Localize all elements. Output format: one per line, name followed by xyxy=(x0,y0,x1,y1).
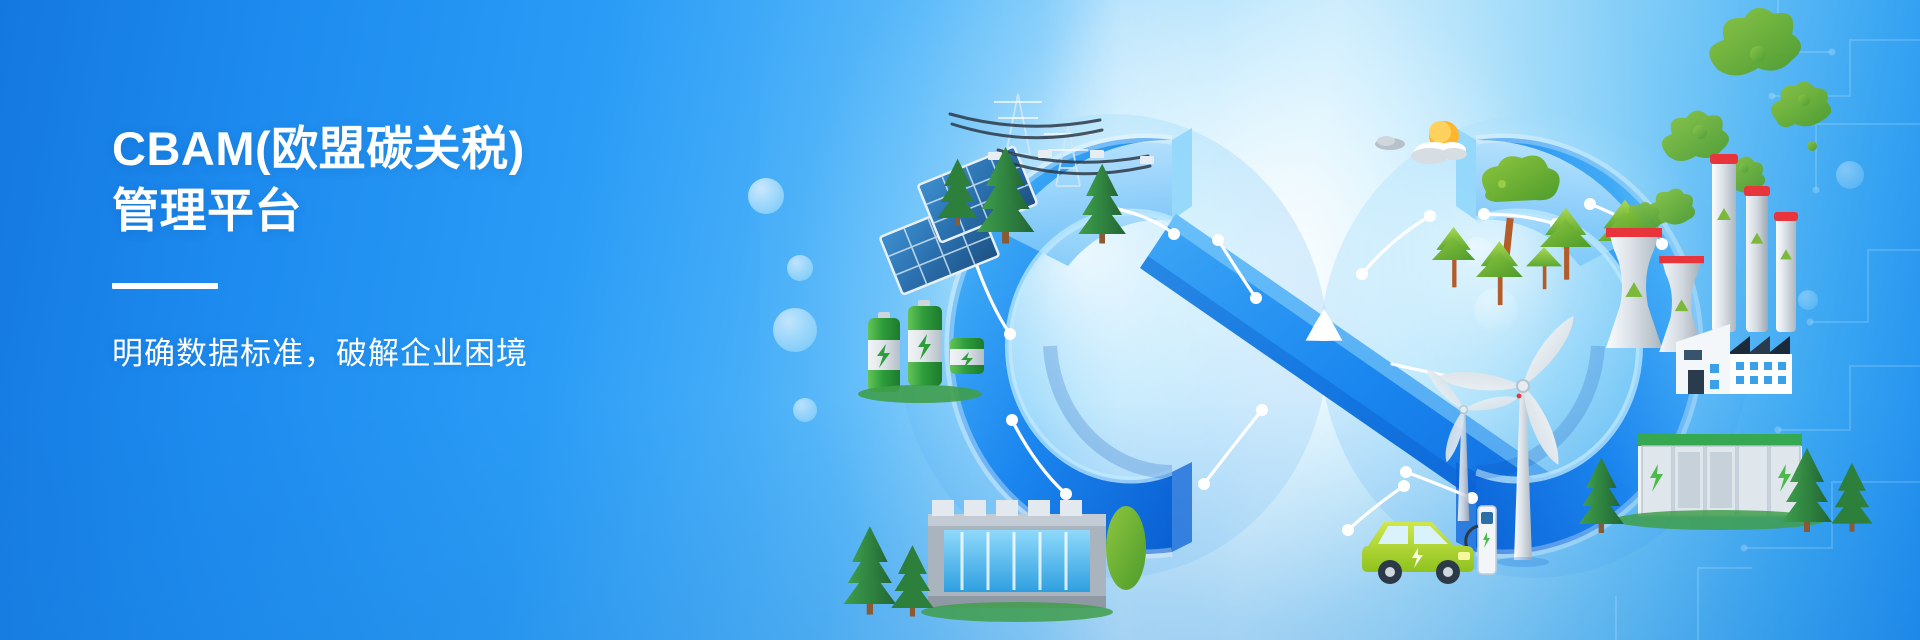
hero-banner: CBAM(欧盟碳关税) 管理平台 明确数据标准，破解企业困境 xyxy=(0,0,1920,640)
hero-copy: CBAM(欧盟碳关税) 管理平台 明确数据标准，破解企业困境 xyxy=(112,118,752,375)
bush-icon xyxy=(1106,506,1146,590)
green-smoke-icon xyxy=(1709,8,1831,151)
carbon-neutral-illustration xyxy=(800,28,1920,640)
hydro-dam-icon xyxy=(921,500,1113,622)
page-subtitle: 明确数据标准，破解企业困境 xyxy=(112,333,752,375)
pine-tree-icon xyxy=(844,526,897,614)
page-title-line2: 管理平台 xyxy=(112,180,752,242)
decor-bubble xyxy=(748,178,784,214)
pine-tree-icon xyxy=(1831,463,1872,532)
page-title-line1: CBAM(欧盟碳关税) xyxy=(112,118,752,180)
pine-tree-icon xyxy=(891,545,934,616)
title-divider xyxy=(112,283,218,289)
sun-cloud-icon xyxy=(1375,121,1467,164)
